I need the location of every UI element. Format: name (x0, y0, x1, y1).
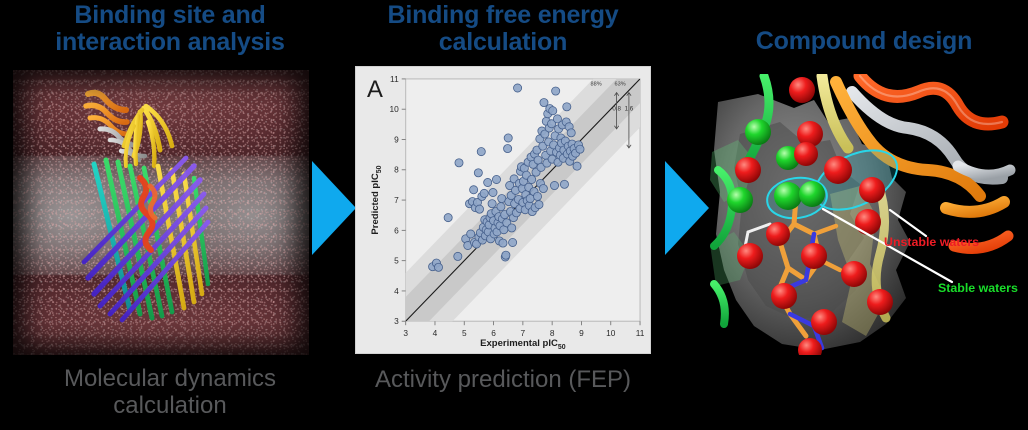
data-point (484, 178, 492, 186)
x-axis-label-sub: 50 (558, 344, 566, 351)
step-title-line2: calculation (338, 29, 668, 56)
step-title-line2: interaction analysis (0, 29, 340, 56)
arrow-step2-to-step3 (664, 160, 710, 256)
x-tick-label: 10 (606, 328, 616, 338)
y-axis-label-sub: 50 (376, 165, 383, 173)
chart-annotation: 0.8 (612, 106, 621, 113)
data-point (573, 162, 581, 170)
data-point (504, 134, 512, 142)
data-point (470, 186, 478, 194)
y-tick-label: 8 (394, 165, 399, 175)
y-tick-label: 9 (394, 134, 399, 144)
step-title-line1: Binding site and (0, 2, 340, 29)
stable-waters-label: Stable waters (938, 281, 1018, 295)
scatter-plot-svg: A 34567891011 34567891011 88%63%0.81.6 (356, 67, 650, 353)
data-point (509, 238, 517, 246)
y-tick-label: 3 (394, 316, 399, 326)
data-point (455, 159, 463, 167)
x-tick-label: 5 (462, 328, 467, 338)
chart-annotation: 88% (591, 82, 602, 88)
step-title-free-energy: Binding free energy calculation (338, 2, 668, 56)
step-caption-line1: Molecular dynamics (0, 366, 340, 393)
data-point (444, 214, 452, 222)
data-point (552, 87, 560, 95)
data-point (528, 175, 536, 183)
y-tick-label: 5 (394, 256, 399, 266)
binding-site-svg: Unstable waters Stable waters (710, 74, 1028, 355)
chart-annotation: 63% (615, 82, 626, 88)
binding-site-water-image: Unstable waters Stable waters (710, 74, 1028, 355)
chart-annotation: 1.6 (625, 106, 634, 113)
unstable-waters-label: Unstable waters (884, 235, 979, 249)
step-caption-fep: Activity prediction (FEP) (338, 367, 668, 394)
y-tick-label: 10 (389, 104, 399, 114)
data-point (474, 169, 482, 177)
arrow-step1-to-step2 (311, 160, 357, 256)
data-point (567, 129, 575, 137)
md-simulation-image (13, 70, 309, 355)
data-point (535, 201, 543, 209)
y-axis-label-base: Predicted pIC (370, 173, 381, 234)
y-tick-label: 4 (394, 286, 399, 296)
data-point (549, 107, 557, 115)
panel-letter: A (367, 76, 383, 103)
data-point (477, 148, 485, 156)
data-point (497, 203, 505, 211)
data-point (563, 103, 571, 111)
data-point (467, 230, 475, 238)
data-point (502, 251, 510, 259)
data-point (504, 145, 512, 153)
data-point (489, 188, 497, 196)
y-tick-label: 6 (394, 225, 399, 235)
workflow-figure: Binding site and interaction analysis Bi… (0, 0, 1028, 430)
x-tick-label: 8 (550, 328, 555, 338)
step-title-compound-design: Compound design (700, 28, 1028, 55)
data-point (550, 181, 558, 189)
data-point (499, 239, 507, 247)
data-point (434, 263, 442, 271)
y-tick-label: 7 (394, 195, 399, 205)
data-point (454, 252, 462, 260)
data-point (560, 180, 568, 188)
x-tick-label: 3 (403, 328, 408, 338)
step-caption-line1: Activity prediction (FEP) (338, 367, 668, 394)
image-vignette (13, 70, 309, 355)
data-point (508, 224, 516, 232)
x-tick-label: 4 (433, 328, 438, 338)
step-caption-md: Molecular dynamics calculation (0, 366, 340, 420)
step-title-line1: Binding free energy (338, 2, 668, 29)
data-point (514, 84, 522, 92)
x-tick-label: 6 (491, 328, 496, 338)
step-caption-line2: calculation (0, 393, 340, 420)
data-point (576, 145, 584, 153)
data-point (488, 200, 496, 208)
fep-scatter-plot: A 34567891011 34567891011 88%63%0.81.6 (355, 66, 651, 354)
step-title-binding-site: Binding site and interaction analysis (0, 2, 340, 56)
data-point (492, 175, 500, 183)
x-tick-label: 9 (579, 328, 584, 338)
x-tick-label: 11 (636, 328, 645, 338)
data-point (475, 205, 483, 213)
step-title-line1: Compound design (700, 28, 1028, 55)
x-tick-label: 7 (521, 328, 526, 338)
data-point (539, 184, 547, 192)
x-axis-label-base: Experimental pIC (480, 338, 558, 349)
data-point (480, 189, 488, 197)
y-tick-label: 11 (390, 74, 399, 84)
data-point (533, 192, 541, 200)
